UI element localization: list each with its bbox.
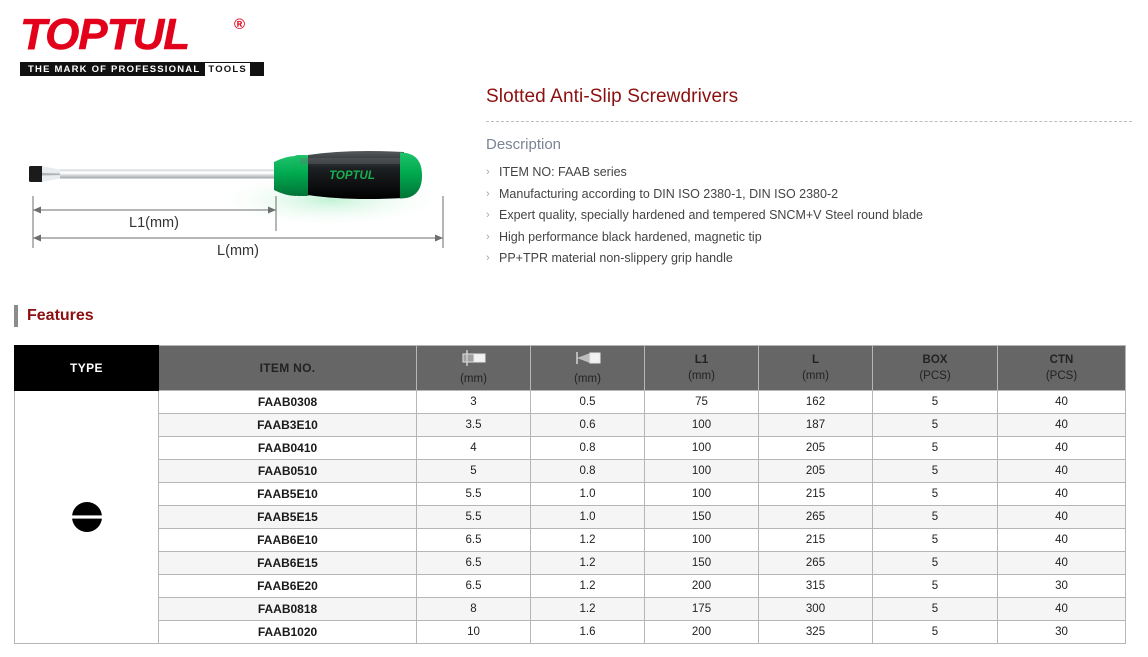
cell-box: 5 [873,529,998,552]
cell-l1: 175 [645,598,759,621]
column-header-blade-width: (mm) [417,346,531,391]
cell-ctn: 30 [998,621,1126,644]
dimension-label-l1: L1(mm) [129,215,179,231]
description-item-text: PP+TPR material non-slippery grip handle [499,251,733,265]
cell-l1: 200 [645,575,759,598]
table-row: FAAB6E15 6.5 1.2 150 265 5 40 [15,552,1126,575]
cell-item-no: FAAB0308 [159,391,417,414]
cell-item-no: FAAB1020 [159,621,417,644]
cell-ctn: 40 [998,414,1126,437]
cell-tip-thickness: 1.2 [531,575,645,598]
tip-thickness-icon [571,350,605,370]
cell-ctn: 40 [998,529,1126,552]
cell-blade-width: 5.5 [417,483,531,506]
column-header-tip-thickness: (mm) [531,346,645,391]
table-row: FAAB0510 5 0.8 100 205 5 40 [15,460,1126,483]
table-row: FAAB6E20 6.5 1.2 200 315 5 30 [15,575,1126,598]
table-row: FAAB1020 10 1.6 200 325 5 30 [15,621,1126,644]
slotted-tip-icon [15,500,158,534]
column-header-l1: L1 (mm) [645,346,759,391]
cell-l: 325 [759,621,873,644]
cell-item-no: FAAB6E20 [159,575,417,598]
table-row: FAAB0818 8 1.2 175 300 5 40 [15,598,1126,621]
cell-ctn: 40 [998,460,1126,483]
cell-l: 300 [759,598,873,621]
description-item-text: Manufacturing according to DIN ISO 2380-… [499,187,838,201]
cell-tip-thickness: 1.2 [531,529,645,552]
cell-item-no: FAAB0510 [159,460,417,483]
cell-tip-thickness: 0.8 [531,437,645,460]
cell-tip-thickness: 0.8 [531,460,645,483]
cell-l: 205 [759,437,873,460]
brand-wordmark: TOPTUL [16,12,266,58]
product-illustration: TOPTUL L1(mm) L(mm) [0,128,470,278]
list-item: › High performance black hardened, magne… [486,228,1132,248]
description-item-text: Expert quality, specially hardened and t… [499,208,923,222]
cell-box: 5 [873,391,998,414]
registered-trademark-icon: ® [234,16,245,33]
description-list: › ITEM NO: FAAB series › Manufacturing a… [486,163,1132,269]
cell-ctn: 40 [998,552,1126,575]
list-item: › Manufacturing according to DIN ISO 238… [486,185,1132,205]
cell-box: 5 [873,575,998,598]
column-unit-mm: (mm) [574,373,601,386]
cell-tip-thickness: 1.0 [531,483,645,506]
column-label-box: BOX [923,354,948,367]
column-header-ctn: CTN (PCS) [998,346,1126,391]
brand-tagline-bar: THE MARK OF PROFESSIONAL TOOLS [20,62,264,76]
column-label-l1: L1 [695,354,708,367]
description-heading: Description [486,136,1132,153]
features-accent-bar [14,305,18,327]
column-unit-mm: (mm) [802,370,829,383]
cell-box: 5 [873,506,998,529]
list-item: › ITEM NO: FAAB series [486,163,1132,183]
cell-l: 215 [759,529,873,552]
cell-l: 162 [759,391,873,414]
chevron-right-icon: › [486,249,490,269]
cell-item-no: FAAB5E15 [159,506,417,529]
table-row: FAAB6E10 6.5 1.2 100 215 5 40 [15,529,1126,552]
cell-blade-width: 10 [417,621,531,644]
features-heading: Features [14,303,94,329]
cell-l1: 100 [645,460,759,483]
cell-l1: 100 [645,414,759,437]
cell-ctn: 40 [998,437,1126,460]
cell-tip-thickness: 1.0 [531,506,645,529]
cell-l: 315 [759,575,873,598]
product-info-panel: Slotted Anti-Slip Screwdrivers Descripti… [486,86,1132,271]
table-row: FAAB0410 4 0.8 100 205 5 40 [15,437,1126,460]
table-row: FAAB3E10 3.5 0.6 100 187 5 40 [15,414,1126,437]
title-divider [486,121,1132,122]
features-heading-text: Features [27,307,94,325]
description-item-text: High performance black hardened, magneti… [499,230,762,244]
cell-l: 205 [759,460,873,483]
cell-box: 5 [873,621,998,644]
cell-tip-thickness: 0.5 [531,391,645,414]
table-row: FAAB5E10 5.5 1.0 100 215 5 40 [15,483,1126,506]
column-header-l: L (mm) [759,346,873,391]
cell-ctn: 40 [998,483,1126,506]
cell-blade-width: 6.5 [417,552,531,575]
table-row: FAAB5E15 5.5 1.0 150 265 5 40 [15,506,1126,529]
chevron-right-icon: › [486,163,490,183]
cell-blade-width: 4 [417,437,531,460]
blade-width-icon [457,350,491,370]
cell-item-no: FAAB0818 [159,598,417,621]
cell-tip-thickness: 1.6 [531,621,645,644]
screwdriver-diagram-svg: TOPTUL L1(mm) L(mm) [0,128,470,278]
cell-ctn: 40 [998,506,1126,529]
cell-blade-width: 5.5 [417,506,531,529]
column-unit-pcs: (PCS) [919,370,950,383]
cell-blade-width: 6.5 [417,529,531,552]
handle-brand-text: TOPTUL [329,170,375,182]
cell-blade-width: 3.5 [417,414,531,437]
cell-blade-width: 3 [417,391,531,414]
cell-tip-thickness: 0.6 [531,414,645,437]
cell-l1: 100 [645,529,759,552]
cell-l: 265 [759,552,873,575]
cell-l1: 100 [645,483,759,506]
description-item-text: ITEM NO: FAAB series [499,165,627,179]
type-cell [15,391,159,644]
cell-ctn: 40 [998,391,1126,414]
column-header-box: BOX (PCS) [873,346,998,391]
column-unit-mm: (mm) [688,370,715,383]
cell-box: 5 [873,460,998,483]
cell-blade-width: 8 [417,598,531,621]
cell-box: 5 [873,552,998,575]
brand-logo: TOPTUL ® THE MARK OF PROFESSIONAL TOOLS [16,12,266,74]
cell-box: 5 [873,414,998,437]
cell-tip-thickness: 1.2 [531,598,645,621]
cell-tip-thickness: 1.2 [531,552,645,575]
chevron-right-icon: › [486,185,490,205]
cell-l: 265 [759,506,873,529]
cell-box: 5 [873,598,998,621]
column-header-item-no: ITEM NO. [159,346,417,391]
column-label-l: L [812,354,819,367]
specification-table: TYPE ITEM NO. (mm) [14,345,1126,644]
cell-ctn: 30 [998,575,1126,598]
column-unit-mm: (mm) [460,373,487,386]
cell-l1: 200 [645,621,759,644]
cell-l: 187 [759,414,873,437]
table-header-row: TYPE ITEM NO. (mm) [15,346,1126,391]
cell-item-no: FAAB0410 [159,437,417,460]
cell-l1: 75 [645,391,759,414]
list-item: › Expert quality, specially hardened and… [486,206,1132,226]
list-item: › PP+TPR material non-slippery grip hand… [486,249,1132,269]
cell-ctn: 40 [998,598,1126,621]
brand-tagline-tools: TOOLS [205,63,250,76]
cell-item-no: FAAB5E10 [159,483,417,506]
cell-l1: 150 [645,506,759,529]
cell-l1: 100 [645,437,759,460]
table-body: FAAB0308 3 0.5 75 162 5 40 FAAB3E10 3.5 … [15,391,1126,644]
cell-blade-width: 5 [417,460,531,483]
cell-l: 215 [759,483,873,506]
cell-box: 5 [873,437,998,460]
cell-item-no: FAAB6E10 [159,529,417,552]
column-label-ctn: CTN [1050,354,1074,367]
column-unit-pcs: (PCS) [1046,370,1077,383]
dimension-label-l: L(mm) [217,243,259,259]
cell-item-no: FAAB6E15 [159,552,417,575]
cell-item-no: FAAB3E10 [159,414,417,437]
brand-tagline-text: THE MARK OF PROFESSIONAL [20,64,200,75]
chevron-right-icon: › [486,206,490,226]
table-row: FAAB0308 3 0.5 75 162 5 40 [15,391,1126,414]
cell-blade-width: 6.5 [417,575,531,598]
chevron-right-icon: › [486,228,490,248]
cell-box: 5 [873,483,998,506]
column-header-type: TYPE [15,346,159,391]
product-title: Slotted Anti-Slip Screwdrivers [486,86,1132,108]
cell-l1: 150 [645,552,759,575]
